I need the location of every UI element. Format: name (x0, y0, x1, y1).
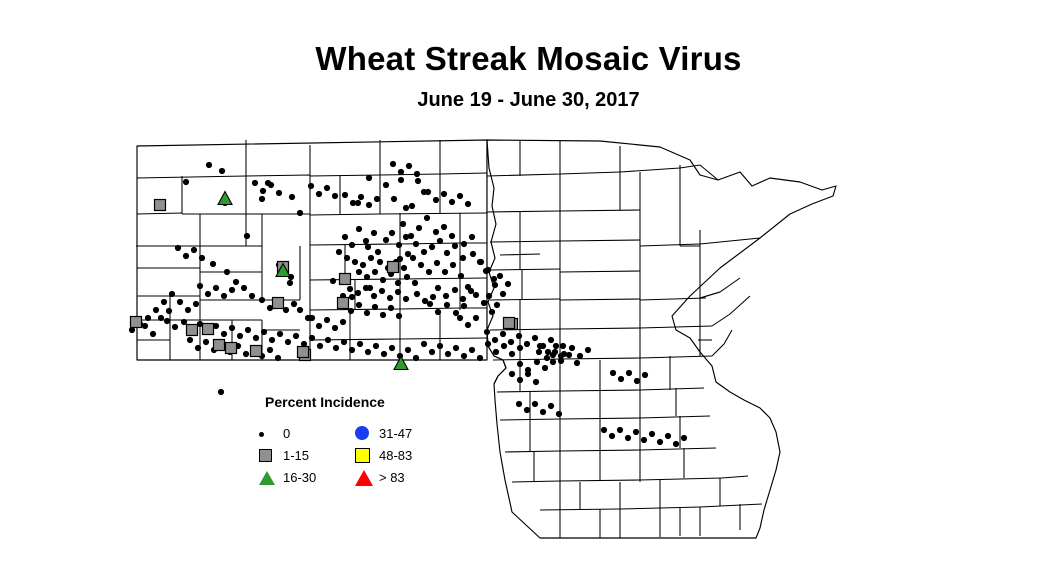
data-point-0 (577, 353, 583, 359)
data-point-0 (401, 265, 407, 271)
data-point-0 (153, 307, 159, 313)
data-point-1-15 (226, 343, 237, 354)
data-point-0 (172, 324, 178, 330)
data-point-0 (618, 376, 624, 382)
data-point-1-15 (155, 200, 166, 211)
data-point-0 (470, 251, 476, 257)
data-point-0 (396, 242, 402, 248)
data-point-0 (418, 262, 424, 268)
data-point-0 (356, 269, 362, 275)
data-point-0 (213, 285, 219, 291)
data-point-0 (517, 361, 523, 367)
data-point-0 (316, 191, 322, 197)
data-point-0 (398, 169, 404, 175)
data-point-0 (524, 407, 530, 413)
data-point-0 (556, 411, 562, 417)
data-point-0 (349, 242, 355, 248)
data-point-0 (183, 179, 189, 185)
data-point-0 (414, 291, 420, 297)
data-point-0 (491, 276, 497, 282)
data-point-0 (252, 180, 258, 186)
data-point-0 (469, 347, 475, 353)
legend-item-label: 16-30 (283, 470, 316, 485)
data-point-0 (330, 278, 336, 284)
data-point-0 (371, 293, 377, 299)
data-point-0 (641, 437, 647, 443)
data-point-0 (244, 233, 250, 239)
data-point-0 (426, 269, 432, 275)
data-point-0 (457, 193, 463, 199)
data-point-1-15 (298, 347, 309, 358)
legend-item-label: > 83 (379, 470, 405, 485)
data-point-0 (665, 433, 671, 439)
data-point-0 (166, 308, 172, 314)
data-point-0 (449, 199, 455, 205)
data-point-1-15 (504, 318, 515, 329)
legend-blue-circle-icon (355, 426, 369, 440)
data-point-0 (444, 250, 450, 256)
data-point-0 (553, 343, 559, 349)
data-point-0 (221, 293, 227, 299)
data-point-0 (291, 301, 297, 307)
data-point-0 (634, 378, 640, 384)
data-point-0 (389, 345, 395, 351)
data-point-0 (461, 241, 467, 247)
legend-red-triangle-icon (355, 470, 373, 486)
data-point-0 (233, 279, 239, 285)
data-point-0 (435, 309, 441, 315)
data-point-0 (409, 203, 415, 209)
legend-item-label: 0 (283, 426, 290, 441)
data-point-0 (517, 345, 523, 351)
data-point-0 (429, 244, 435, 250)
data-point-0 (460, 255, 466, 261)
data-point-0 (191, 247, 197, 253)
data-point-0 (379, 288, 385, 294)
data-point-0 (505, 281, 511, 287)
data-point-1-15 (388, 262, 399, 273)
data-point-0 (344, 255, 350, 261)
data-point-0 (574, 360, 580, 366)
data-point-0 (342, 192, 348, 198)
data-point-0 (489, 309, 495, 315)
data-point-0 (364, 310, 370, 316)
data-point-0 (610, 370, 616, 376)
data-point-0 (617, 427, 623, 433)
data-point-0 (365, 244, 371, 250)
data-point-0 (297, 210, 303, 216)
data-point-0 (441, 191, 447, 197)
data-point-0 (356, 302, 362, 308)
data-point-0 (267, 347, 273, 353)
data-point-0 (324, 185, 330, 191)
data-point-0 (187, 337, 193, 343)
data-point-0 (352, 259, 358, 265)
data-point-0 (175, 245, 181, 251)
data-point-0 (404, 274, 410, 280)
data-point-0 (403, 205, 409, 211)
data-point-0 (633, 429, 639, 435)
data-point-0 (497, 273, 503, 279)
data-point-0 (465, 284, 471, 290)
data-point-0 (229, 325, 235, 331)
legend-item-label: 1-15 (283, 448, 309, 463)
data-point-0 (332, 193, 338, 199)
legend-gray-square-icon (259, 449, 272, 462)
data-point-0 (372, 304, 378, 310)
data-point-0 (197, 283, 203, 289)
legend: Percent Incidence 0 1-15 16-30 31-47 48-… (255, 394, 435, 494)
data-point-0 (461, 353, 467, 359)
data-point-0 (500, 331, 506, 337)
data-point-0 (342, 234, 348, 240)
data-point-0 (437, 238, 443, 244)
data-point-0 (429, 349, 435, 355)
data-point-0 (347, 286, 353, 292)
data-point-0 (452, 287, 458, 293)
data-point-0 (380, 312, 386, 318)
data-point-0 (358, 194, 364, 200)
data-point-0 (259, 196, 265, 202)
data-point-0 (210, 261, 216, 267)
data-point-0 (395, 289, 401, 295)
data-point-0 (269, 337, 275, 343)
data-point-0 (363, 238, 369, 244)
data-point-0 (516, 401, 522, 407)
data-point-0 (276, 190, 282, 196)
data-point-0 (183, 253, 189, 259)
data-point-0 (371, 230, 377, 236)
data-point-0 (293, 333, 299, 339)
data-point-0 (387, 295, 393, 301)
data-point-0 (443, 293, 449, 299)
data-point-0 (444, 302, 450, 308)
data-point-0 (509, 351, 515, 357)
data-point-0 (437, 343, 443, 349)
data-point-0 (453, 310, 459, 316)
data-point-0 (508, 339, 514, 345)
data-point-0 (158, 315, 164, 321)
data-point-0 (422, 298, 428, 304)
data-point-0 (285, 339, 291, 345)
data-point-0 (406, 163, 412, 169)
data-point-0 (533, 379, 539, 385)
legend-item-label: 31-47 (379, 426, 412, 441)
data-point-0 (548, 337, 554, 343)
data-point-0 (308, 183, 314, 189)
data-point-0 (416, 225, 422, 231)
data-point-0 (205, 291, 211, 297)
data-point-1-15 (131, 317, 142, 328)
data-point-0 (465, 201, 471, 207)
data-point-0 (458, 273, 464, 279)
data-point-0 (332, 325, 338, 331)
data-point-0 (460, 296, 466, 302)
data-point-0 (625, 435, 631, 441)
data-point-0 (375, 249, 381, 255)
data-point-0 (524, 341, 530, 347)
data-point-0 (649, 431, 655, 437)
data-point-0 (365, 349, 371, 355)
data-point-0 (287, 280, 293, 286)
data-point-0 (485, 341, 491, 347)
state-outlines (137, 140, 836, 538)
data-point-0 (324, 317, 330, 323)
data-point-0 (389, 230, 395, 236)
map-page: Wheat Streak Mosaic Virus June 19 - June… (0, 0, 1057, 562)
choropleth-point-map (0, 0, 1057, 562)
data-point-0 (259, 297, 265, 303)
data-point-0 (400, 221, 406, 227)
legend-item-label: 48-83 (379, 448, 412, 463)
data-point-0 (268, 182, 274, 188)
data-point-0 (457, 315, 463, 321)
data-point-0 (434, 260, 440, 266)
data-point-0 (396, 313, 402, 319)
data-point-0 (532, 335, 538, 341)
data-point-0 (193, 301, 199, 307)
data-point-0 (626, 370, 632, 376)
data-point-0 (398, 177, 404, 183)
data-point-0 (408, 233, 414, 239)
legend-green-triangle-icon (259, 471, 275, 485)
data-point-0 (360, 262, 366, 268)
data-point-0 (309, 335, 315, 341)
data-point-0 (150, 331, 156, 337)
data-point-0 (349, 294, 355, 300)
data-point-0 (316, 323, 322, 329)
data-point-0 (363, 285, 369, 291)
data-point-0 (536, 349, 542, 355)
data-point-0 (465, 322, 471, 328)
data-point-1-15 (338, 298, 349, 309)
minnesota-outline (487, 140, 836, 538)
data-point-0 (542, 365, 548, 371)
data-point-0 (218, 389, 224, 395)
data-point-0 (261, 329, 267, 335)
data-point-0 (373, 343, 379, 349)
data-point-0 (469, 234, 475, 240)
data-point-0 (473, 292, 479, 298)
data-point-0 (405, 251, 411, 257)
data-point-0 (383, 237, 389, 243)
data-point-1-15 (203, 324, 214, 335)
data-point-0 (433, 197, 439, 203)
data-point-0 (221, 331, 227, 337)
data-point-0 (224, 269, 230, 275)
data-point-0 (424, 215, 430, 221)
data-point-0 (364, 274, 370, 280)
data-point-0 (601, 427, 607, 433)
legend-title: Percent Incidence (265, 394, 385, 410)
data-point-0 (657, 439, 663, 445)
data-point-0 (366, 202, 372, 208)
data-point-0 (501, 343, 507, 349)
data-point-0 (372, 269, 378, 275)
data-point-0 (317, 343, 323, 349)
data-point-0 (368, 255, 374, 261)
data-point-0 (585, 347, 591, 353)
data-point-0 (229, 287, 235, 293)
data-point-0 (433, 229, 439, 235)
data-point-1-15 (187, 325, 198, 336)
data-point-0 (161, 299, 167, 305)
data-point-0 (492, 337, 498, 343)
legend-yellow-square-icon (355, 448, 370, 463)
data-point-0 (540, 409, 546, 415)
data-point-0 (395, 280, 401, 286)
data-point-0 (477, 355, 483, 361)
data-point-0 (410, 255, 416, 261)
data-point-0 (525, 371, 531, 377)
data-point-0 (357, 341, 363, 347)
data-point-0 (441, 224, 447, 230)
data-point-0 (195, 345, 201, 351)
data-point-0 (185, 307, 191, 313)
data-point-0 (249, 293, 255, 299)
data-point-0 (478, 259, 484, 265)
data-point-0 (412, 280, 418, 286)
data-point-0 (177, 299, 183, 305)
data-point-0 (374, 196, 380, 202)
data-point-0 (333, 345, 339, 351)
data-point-0 (442, 269, 448, 275)
data-point-0 (558, 358, 564, 364)
data-point-0 (485, 267, 491, 273)
data-point-0 (325, 337, 331, 343)
data-point-0 (356, 226, 362, 232)
data-point-0 (388, 305, 394, 311)
data-point-0 (390, 161, 396, 167)
data-point-0 (537, 343, 543, 349)
data-point-0 (453, 345, 459, 351)
data-point-0 (381, 351, 387, 357)
data-point-0 (534, 359, 540, 365)
data-point-0 (500, 291, 506, 297)
data-point-1-15 (340, 274, 351, 285)
data-point-0 (673, 441, 679, 447)
data-point-1-15 (273, 298, 284, 309)
data-point-0 (145, 315, 151, 321)
data-point-0 (349, 347, 355, 353)
data-point-0 (336, 249, 342, 255)
data-point-0 (245, 327, 251, 333)
data-point-0 (277, 331, 283, 337)
data-point-0 (377, 259, 383, 265)
data-point-0 (473, 315, 479, 321)
data-point-0 (461, 303, 467, 309)
data-point-0 (380, 277, 386, 283)
data-point-0 (452, 243, 458, 249)
data-point-0 (289, 194, 295, 200)
data-point-0 (550, 352, 556, 358)
data-point-1-15 (214, 340, 225, 351)
data-point-0 (566, 352, 572, 358)
data-point-0 (609, 433, 615, 439)
data-point-0 (425, 189, 431, 195)
data-point-0 (642, 372, 648, 378)
legend-dot-icon (259, 432, 264, 437)
data-point-0 (569, 345, 575, 351)
data-point-0 (243, 351, 249, 357)
data-point-0 (350, 200, 356, 206)
data-point-0 (486, 293, 492, 299)
data-point-0 (164, 318, 170, 324)
data-point-0 (237, 333, 243, 339)
data-point-0 (493, 349, 499, 355)
data-point-0 (341, 339, 347, 345)
data-point-0 (421, 249, 427, 255)
data-point-0 (403, 296, 409, 302)
data-point-0 (199, 255, 205, 261)
data-point-0 (450, 262, 456, 268)
data-point-0 (253, 335, 259, 341)
data-point-0 (430, 294, 436, 300)
data-point-0 (355, 290, 361, 296)
data-point-0 (305, 315, 311, 321)
data-point-0 (260, 188, 266, 194)
data-point-0 (383, 182, 389, 188)
data-point-0 (445, 351, 451, 357)
data-point-0 (532, 401, 538, 407)
data-point-0 (391, 196, 397, 202)
data-point-0 (203, 339, 209, 345)
data-point-0 (550, 359, 556, 365)
data-point-0 (414, 171, 420, 177)
data-point-0 (509, 371, 515, 377)
data-point-0 (169, 291, 175, 297)
data-point-0 (206, 162, 212, 168)
data-point-0 (275, 355, 281, 361)
data-point-0 (681, 435, 687, 441)
data-point-0 (413, 241, 419, 247)
data-point-0 (297, 307, 303, 313)
data-point-0 (219, 168, 225, 174)
data-point-0 (413, 355, 419, 361)
data-point-0 (366, 175, 372, 181)
data-point-0 (481, 300, 487, 306)
data-point-0 (544, 355, 550, 361)
data-point-0 (241, 285, 247, 291)
data-point-0 (517, 377, 523, 383)
data-point-0 (494, 302, 500, 308)
data-point-0 (548, 403, 554, 409)
data-point-0 (560, 343, 566, 349)
data-point-1-15 (251, 346, 262, 357)
data-point-0 (405, 347, 411, 353)
data-point-0 (415, 178, 421, 184)
data-point-0 (484, 329, 490, 335)
data-point-0 (492, 282, 498, 288)
data-point-0 (449, 233, 455, 239)
data-point-0 (516, 333, 522, 339)
data-point-0 (340, 319, 346, 325)
data-point-0 (421, 341, 427, 347)
data-point-0 (435, 285, 441, 291)
